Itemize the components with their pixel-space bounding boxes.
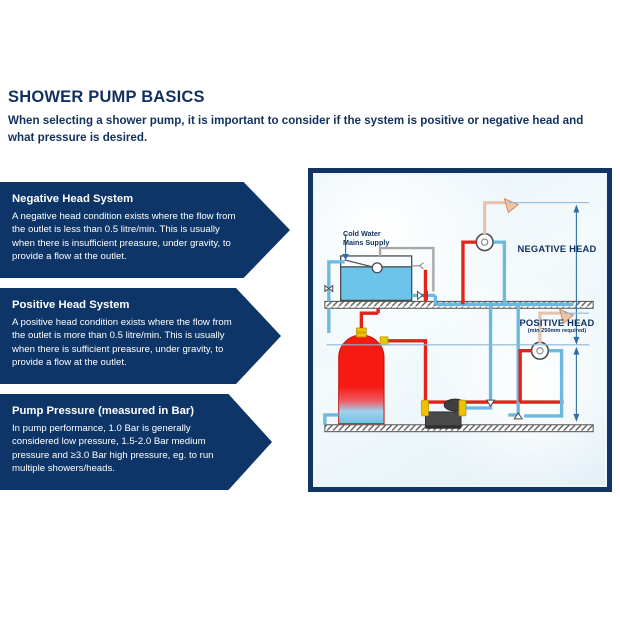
banner-positive-head[interactable]: Positive Head System A positive head con… <box>0 288 281 384</box>
cylinder-cold-feed-bottom <box>325 415 339 425</box>
shower-head-reference-line <box>508 203 589 314</box>
downstairs-shower-cold-pipe <box>520 351 563 416</box>
banner-pump-pressure-title: Pump Pressure (measured in Bar) <box>12 405 226 419</box>
banner-negative-head-body: A negative head condition exists where t… <box>12 210 240 264</box>
label-positive-head: POSITIVE HEAD <box>501 317 612 328</box>
downstairs-shower-hot-pipe <box>518 351 532 402</box>
diagram-canvas: Cold WaterMains Supply NEGATIVE HEAD POS… <box>315 175 605 485</box>
header: SHOWER PUMP BASICS When selecting a show… <box>8 88 608 147</box>
upstairs-shower-mixer[interactable] <box>476 234 493 251</box>
label-positive-head-note: (min 250mm required) <box>501 328 612 334</box>
label-cold-water-line1: Cold Water <box>343 229 381 238</box>
banner-pump-pressure-body: In pump performance, 1.0 Bar is generall… <box>12 422 226 476</box>
plumbing-diagram-panel: Cold WaterMains Supply NEGATIVE HEAD POS… <box>308 168 612 492</box>
upstairs-shower-head-icon <box>504 199 518 213</box>
banner-positive-head-title: Positive Head System <box>12 299 235 313</box>
cold-water-tank <box>341 256 424 300</box>
banner-pump-pressure[interactable]: Pump Pressure (measured in Bar) In pump … <box>0 394 272 490</box>
pump-cold-inlet-pipe <box>466 304 491 408</box>
upstairs-shower-hot-pipe <box>463 242 477 304</box>
upstairs-shower-riser-arm <box>485 203 509 235</box>
banner-list: Negative Head System A negative head con… <box>0 182 300 500</box>
cylinder-hot-flow-pipe <box>361 308 378 328</box>
banner-negative-head-title: Negative Head System <box>12 193 244 207</box>
page-subtitle: When selecting a shower pump, it is impo… <box>8 113 608 147</box>
label-cold-water-line2: Mains Supply <box>343 238 389 247</box>
banner-negative-head[interactable]: Negative Head System A negative head con… <box>0 182 290 278</box>
cylinder-top-fitting <box>356 328 366 337</box>
positive-head-dimension-line <box>573 347 579 422</box>
tank-cold-feed-pipe <box>412 295 574 304</box>
hot-water-cylinder <box>339 335 384 424</box>
page-title: SHOWER PUMP BASICS <box>8 88 608 106</box>
label-negative-head: NEGATIVE HEAD <box>501 243 612 254</box>
banner-positive-head-body: A positive head condition exists where t… <box>12 316 235 370</box>
label-cold-water-mains-supply: Cold WaterMains Supply <box>343 229 413 247</box>
